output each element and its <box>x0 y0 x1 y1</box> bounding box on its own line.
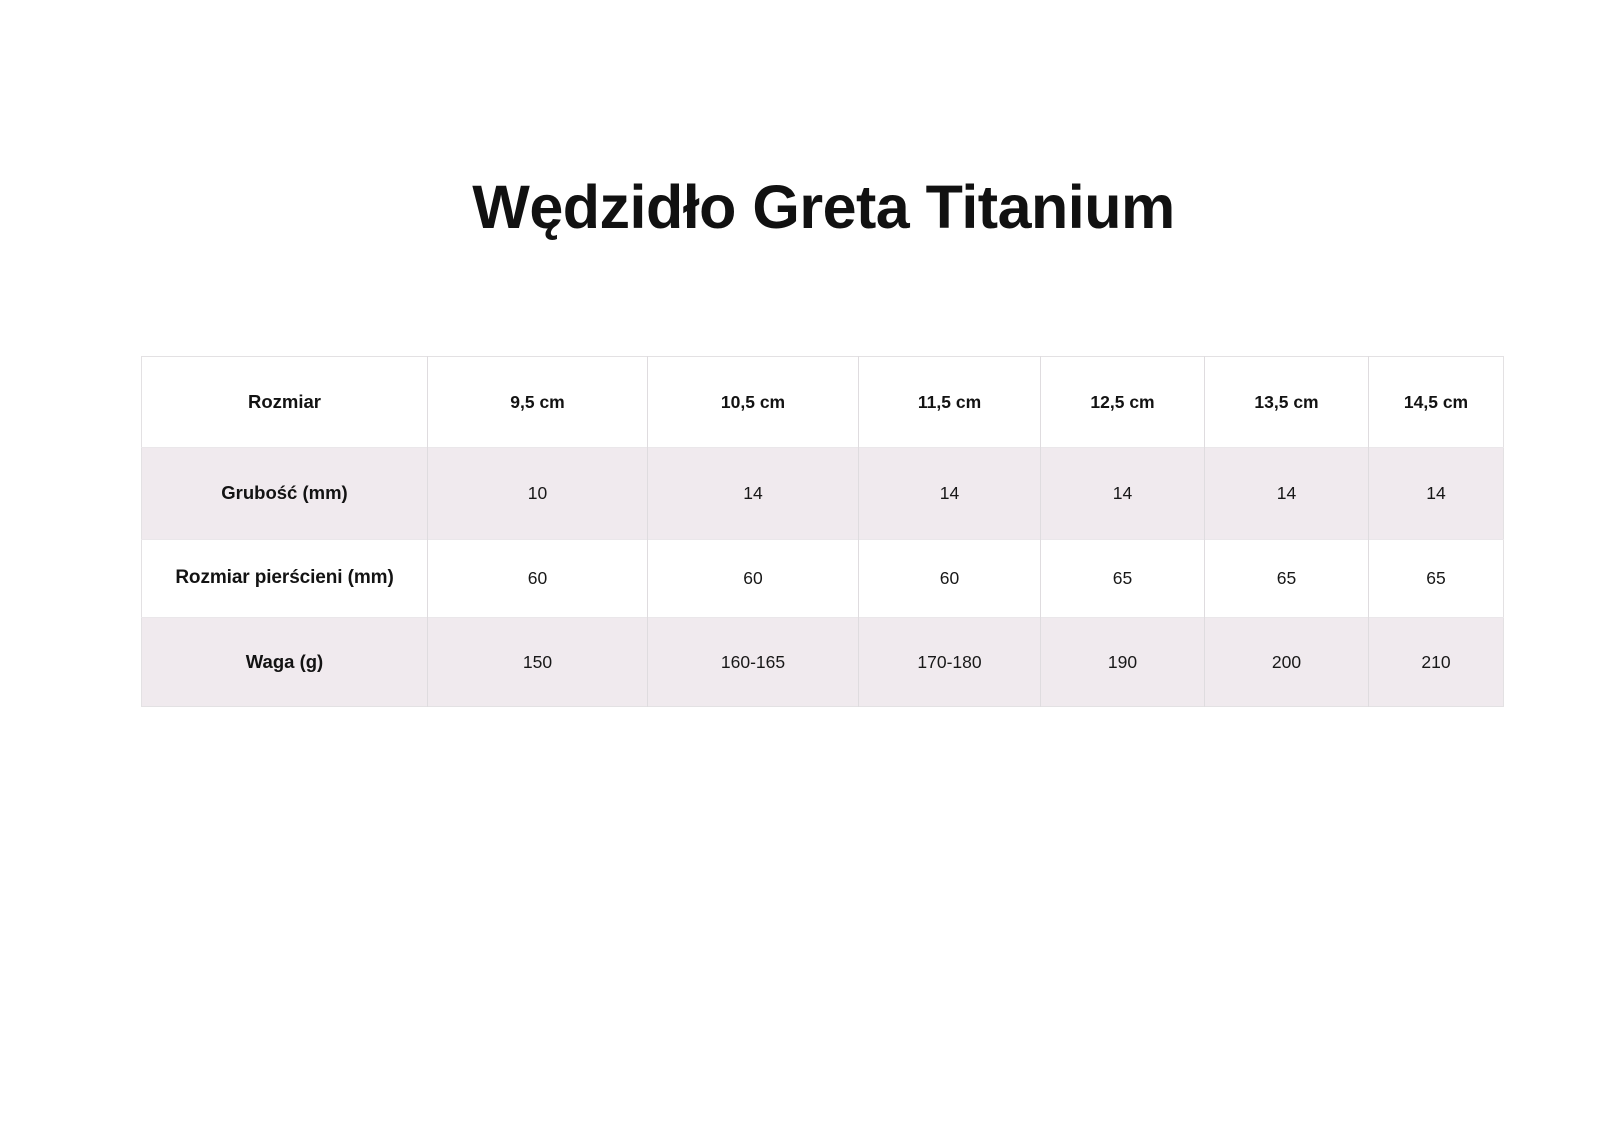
cell-pierscieni-6: 65 <box>1369 540 1504 618</box>
row-label-rozmiar-pierscieni: Rozmiar pierścieni (mm) <box>142 540 428 618</box>
table-row-header: Rozmiar 9,5 cm 10,5 cm 11,5 cm 12,5 cm 1… <box>142 357 1504 448</box>
specification-table: Rozmiar 9,5 cm 10,5 cm 11,5 cm 12,5 cm 1… <box>141 356 1504 707</box>
header-size-6: 14,5 cm <box>1369 357 1504 448</box>
table-row: Grubość (mm) 10 14 14 14 14 14 <box>142 448 1504 540</box>
table-row: Waga (g) 150 160-165 170-180 190 200 210 <box>142 618 1504 707</box>
cell-waga-2: 160-165 <box>648 618 859 707</box>
row-label-waga: Waga (g) <box>142 618 428 707</box>
cell-pierscieni-5: 65 <box>1205 540 1369 618</box>
cell-grubosc-5: 14 <box>1205 448 1369 540</box>
header-size-2: 10,5 cm <box>648 357 859 448</box>
header-size-4: 12,5 cm <box>1041 357 1205 448</box>
header-size-3: 11,5 cm <box>859 357 1041 448</box>
header-size-1: 9,5 cm <box>428 357 648 448</box>
cell-waga-6: 210 <box>1369 618 1504 707</box>
specification-table-container: Rozmiar 9,5 cm 10,5 cm 11,5 cm 12,5 cm 1… <box>141 356 1503 707</box>
cell-waga-3: 170-180 <box>859 618 1041 707</box>
cell-pierscieni-2: 60 <box>648 540 859 618</box>
cell-waga-1: 150 <box>428 618 648 707</box>
cell-grubosc-1: 10 <box>428 448 648 540</box>
cell-grubosc-2: 14 <box>648 448 859 540</box>
cell-grubosc-3: 14 <box>859 448 1041 540</box>
header-label-rozmiar: Rozmiar <box>142 357 428 448</box>
cell-pierscieni-1: 60 <box>428 540 648 618</box>
cell-pierscieni-4: 65 <box>1041 540 1205 618</box>
table-row: Rozmiar pierścieni (mm) 60 60 60 65 65 6… <box>142 540 1504 618</box>
cell-pierscieni-3: 60 <box>859 540 1041 618</box>
cell-grubosc-4: 14 <box>1041 448 1205 540</box>
cell-grubosc-6: 14 <box>1369 448 1504 540</box>
cell-waga-4: 190 <box>1041 618 1205 707</box>
cell-waga-5: 200 <box>1205 618 1369 707</box>
page-root: Wędzidło Greta Titanium Rozmiar 9,5 cm 1… <box>0 0 1600 1131</box>
header-size-5: 13,5 cm <box>1205 357 1369 448</box>
row-label-grubosc: Grubość (mm) <box>142 448 428 540</box>
page-title: Wędzidło Greta Titanium <box>0 173 1600 241</box>
